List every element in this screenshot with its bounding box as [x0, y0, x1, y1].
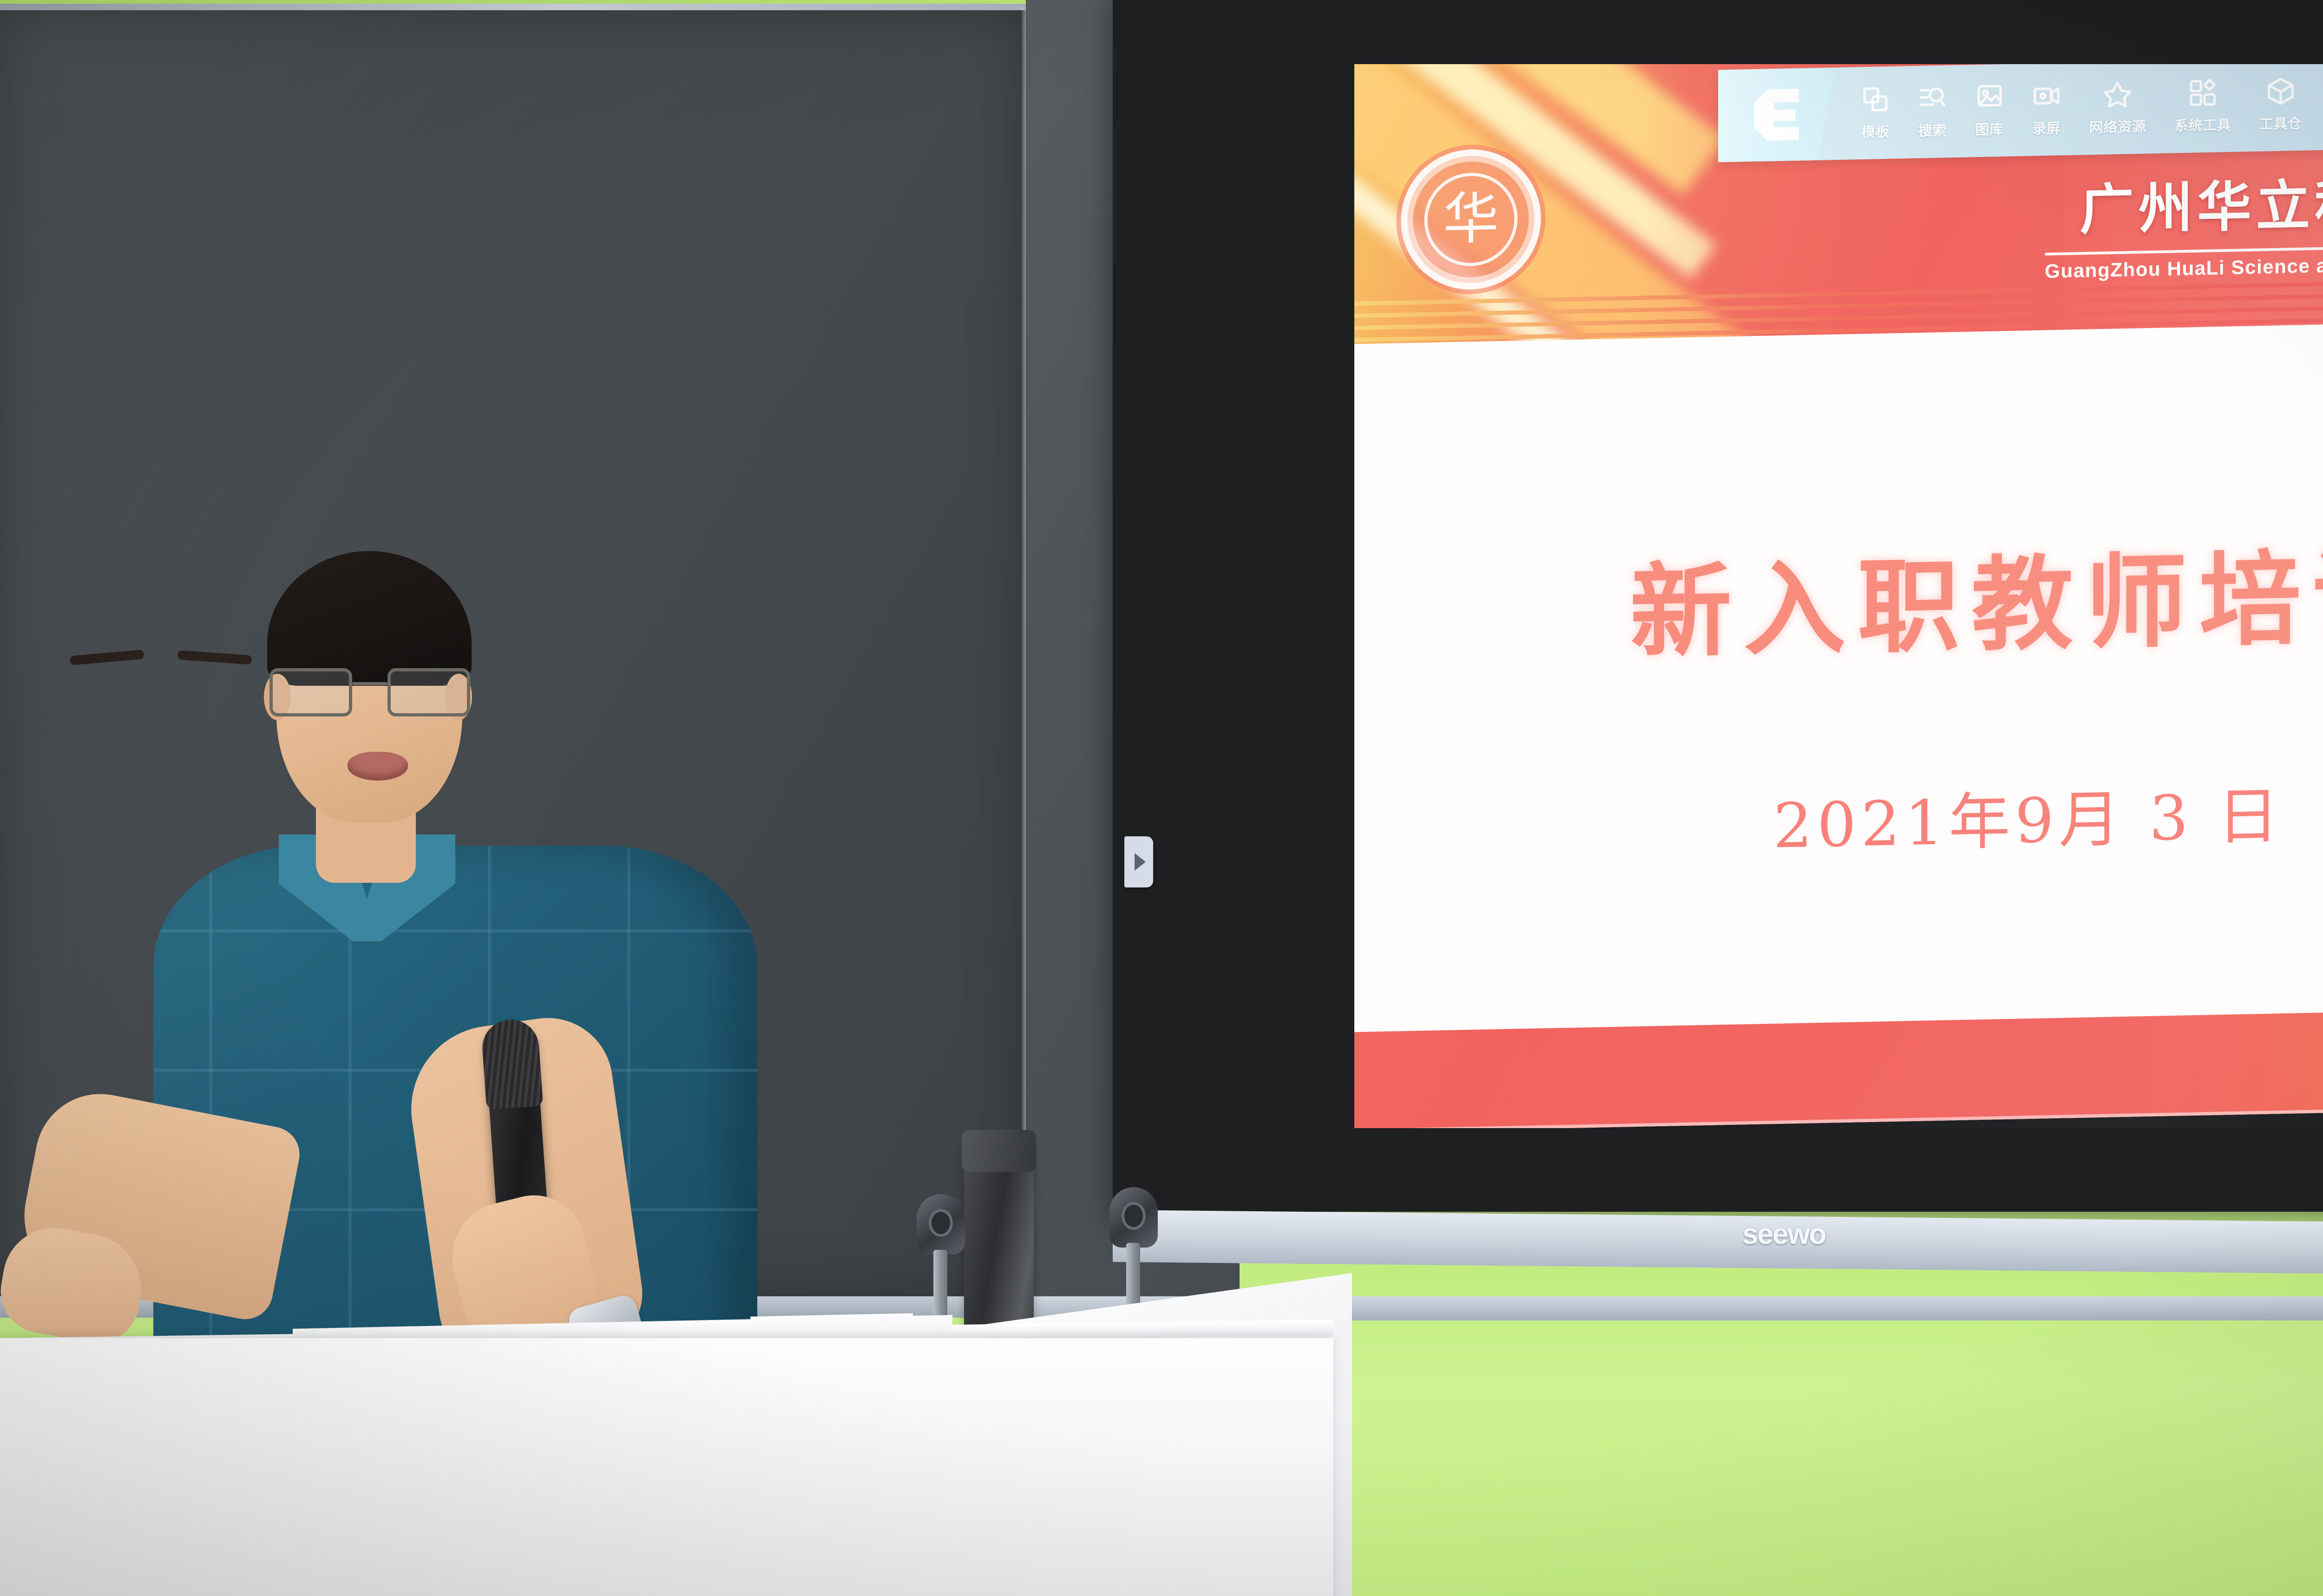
toolbar-item-system-tools[interactable]: 系统工具 [2174, 78, 2231, 135]
toolbar-item-toolbox[interactable]: 工具仓 [2259, 76, 2302, 133]
classroom-scene: 华 广州华立科技职业学院 GuangZhou HuaLi Science and… [0, 0, 2323, 1596]
toolbar-item-resources[interactable]: 网络资源 [2089, 79, 2146, 137]
app-toolbar[interactable]: 模板 搜索 图库 录屏 [1718, 64, 2323, 162]
side-drawer-handle[interactable] [1124, 836, 1153, 887]
slide-footer-band [1354, 1005, 2323, 1128]
lectern [0, 1338, 1333, 1596]
eyeglasses [266, 668, 476, 719]
toolbar-item-label: 图库 [1975, 118, 2004, 139]
c-logo-mark-icon [1754, 89, 1798, 141]
toolbar-item-label: 录屏 [2032, 117, 2061, 138]
presenter-eyebrow [69, 650, 144, 665]
apps-grid-icon [2188, 78, 2217, 107]
slide-title: 新入职教师培训 [1354, 508, 2323, 683]
eyeglass-lens [387, 668, 470, 716]
toolbar-item-label: 模板 [1861, 120, 1890, 141]
blackboard-top-rail [0, 4, 1026, 10]
interactive-flat-panel[interactable]: 华 广州华立科技职业学院 GuangZhou HuaLi Science and… [1113, 0, 2323, 1212]
microphone-clip [1109, 1187, 1158, 1248]
toolbar-item-label: 系统工具 [2174, 113, 2231, 135]
image-icon [1975, 82, 2004, 112]
toolbar-item-gallery[interactable]: 图库 [1975, 82, 2004, 139]
college-name-cn: 广州华立科技职业学院 [2045, 154, 2323, 245]
toolbar-item-label: 搜索 [1918, 119, 1947, 140]
presenter-mouth [348, 752, 408, 781]
toolbar-items: 模板 搜索 图库 录屏 [1835, 75, 2323, 142]
eyeglass-lens [269, 668, 352, 716]
toolbar-logo[interactable] [1718, 67, 1835, 162]
toolbar-item-record[interactable]: 录屏 [2032, 81, 2061, 138]
toolbar-item-template[interactable]: 模板 [1861, 85, 1890, 141]
presentation-slide: 华 广州华立科技职业学院 GuangZhou HuaLi Science and… [1354, 64, 2323, 1128]
play-triangle-icon [1135, 853, 1146, 871]
microphone-clip [917, 1194, 965, 1254]
toolbar-item-label: 工具仓 [2259, 112, 2302, 133]
toolbar-item-label: 网络资源 [2089, 115, 2146, 137]
panel-brand-logo: seewo [1742, 1218, 1826, 1251]
toolbar-item-search[interactable]: 搜索 [1918, 84, 1947, 140]
search-document-icon [1918, 84, 1947, 113]
slide-date: 2021年9月 3 日 [1354, 758, 2323, 874]
eyeglass-bridge [352, 682, 387, 685]
display-screen[interactable]: 华 广州华立科技职业学院 GuangZhou HuaLi Science and… [1354, 64, 2323, 1128]
video-camera-icon [2032, 81, 2061, 111]
cube-box-icon [2266, 77, 2295, 106]
tumbler-cap [962, 1130, 1036, 1172]
star-pen-icon [2103, 80, 2132, 109]
seal-character: 华 [1424, 172, 1518, 267]
microphone-grille [480, 1018, 543, 1110]
college-name-block: 广州华立科技职业学院 GuangZhou HuaLi Science and T… [2045, 154, 2323, 282]
presenter-eyebrow [177, 650, 252, 664]
template-copy-icon [1861, 85, 1890, 114]
presenter-hair [267, 551, 472, 686]
